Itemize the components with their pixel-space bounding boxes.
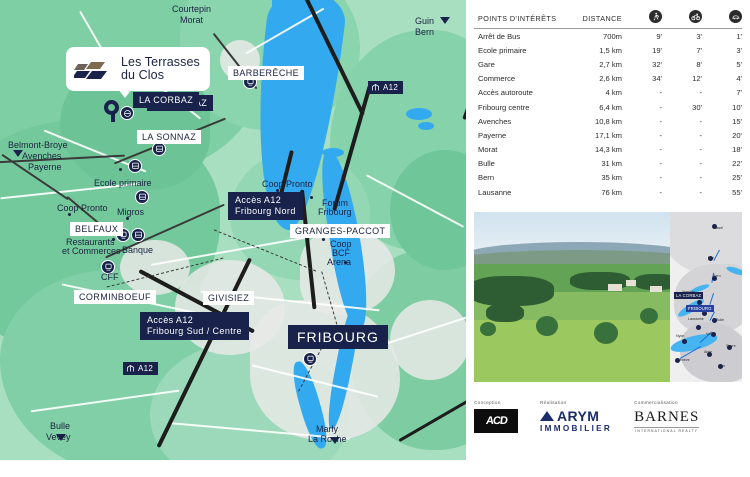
poi-bike-time: 7' bbox=[662, 43, 702, 57]
credit-caption: Conception bbox=[474, 400, 518, 405]
tree bbox=[640, 308, 658, 324]
page-bottom-margin bbox=[0, 460, 750, 477]
motorway-icon bbox=[126, 364, 135, 373]
field bbox=[474, 320, 670, 382]
poi-name: Accès autoroute bbox=[474, 86, 564, 100]
map-label: Ecole primaire bbox=[94, 178, 152, 189]
header-poi: POINTS D'INTÉRÊTS bbox=[474, 10, 564, 29]
bicycle-icon bbox=[689, 10, 702, 23]
poi-distance: 6,4 km bbox=[564, 100, 622, 114]
urban-area bbox=[175, 260, 285, 355]
direction-arrow bbox=[440, 17, 450, 24]
map-label: Bern bbox=[415, 27, 434, 38]
poi-bike-time: 3' bbox=[662, 29, 702, 44]
map-label: Banque bbox=[122, 245, 153, 256]
access-line-2: Fribourg Sud / Centre bbox=[147, 326, 242, 337]
header-distance: DISTANCE bbox=[564, 10, 622, 29]
poi-distance: 1,5 km bbox=[564, 43, 622, 57]
poi-walk-time: 34' bbox=[622, 72, 662, 86]
map-label: et Commerces bbox=[62, 246, 121, 257]
poi-distance: 17,1 km bbox=[564, 128, 622, 142]
map-district-label: GIVISIEZ bbox=[203, 291, 254, 305]
map-label: Belmont-Broye bbox=[8, 140, 68, 151]
swiss-city-label: Basel bbox=[714, 226, 723, 230]
motorway-shield: A12 bbox=[123, 362, 158, 375]
credit-commercialisation: Commercialisation BARNES INTERNATIONAL R… bbox=[634, 400, 699, 433]
poi-walk-time: - bbox=[622, 86, 662, 100]
poi-name: Bern bbox=[474, 171, 564, 185]
switzerland-overview-map: BaselBielBernYverdon-les-bainsLausanneBu… bbox=[670, 212, 742, 382]
poi-car-time: 25' bbox=[702, 171, 742, 185]
map-district-label: CORMINBOEUF bbox=[74, 290, 156, 304]
table-row: Ecole primaire1,5 km19'7'3' bbox=[474, 43, 742, 57]
table-body: Arrêt de Bus700m9'3'1'Ecole primaire1,5 … bbox=[474, 29, 742, 200]
tree bbox=[536, 316, 558, 336]
pond bbox=[418, 122, 434, 130]
walking-icon bbox=[649, 10, 662, 23]
brochure-page: CourtepinMoratGuinBernBelmont-BroyeAvenc… bbox=[0, 0, 750, 477]
credit-caption: Réalisation bbox=[540, 400, 612, 405]
table-row: Gare2,7 km32'8'5' bbox=[474, 57, 742, 71]
poi-bike-time: - bbox=[662, 185, 702, 199]
table-row: Morat14,3 km--18' bbox=[474, 143, 742, 157]
swiss-city-label: Lausanne bbox=[688, 317, 704, 321]
map-access-label[interactable]: Accès A12Fribourg Nord bbox=[228, 192, 303, 220]
map-district-label: BARBERÊCHE bbox=[228, 66, 304, 80]
pond bbox=[406, 108, 432, 120]
header-walking bbox=[622, 10, 662, 29]
poi-car-time: 55' bbox=[702, 185, 742, 199]
terrasses-du-clos-logo bbox=[74, 54, 114, 84]
arym-logo-row: ARYM bbox=[540, 409, 612, 423]
header-car bbox=[702, 10, 742, 29]
poi-distance: 10,8 km bbox=[564, 114, 622, 128]
poi-name: Morat bbox=[474, 143, 564, 157]
poi-name: Ecole primaire bbox=[474, 43, 564, 57]
swiss-city-label: Nyon bbox=[676, 334, 684, 338]
callout-tail bbox=[118, 89, 132, 98]
poi-distance: 76 km bbox=[564, 185, 622, 199]
poi-bike-time: - bbox=[662, 171, 702, 185]
poi-walk-time: 9' bbox=[622, 29, 662, 44]
poi-car-time: 5' bbox=[702, 57, 742, 71]
acd-logo: ACD bbox=[474, 409, 518, 433]
poi-name: Avenches bbox=[474, 114, 564, 128]
project-name: Les Terrasses du Clos bbox=[121, 56, 200, 83]
poi-walk-time: - bbox=[622, 100, 662, 114]
table-header-row: POINTS D'INTÉRÊTS DISTANCE bbox=[474, 10, 742, 29]
poi-bike-time: - bbox=[662, 157, 702, 171]
poi-name: Fribourg centre bbox=[474, 100, 564, 114]
media-row: BaselBielBernYverdon-les-bainsLausanneBu… bbox=[474, 212, 742, 382]
map-label: Courtepin bbox=[172, 4, 211, 15]
arym-wordmark: ARYM bbox=[557, 409, 599, 423]
hedge-row bbox=[474, 276, 554, 306]
swiss-city-label: Sierre bbox=[726, 344, 736, 348]
credit-caption: Commercialisation bbox=[634, 400, 699, 405]
poi-dot bbox=[119, 168, 122, 171]
poi-name: Arrêt de Bus bbox=[474, 29, 564, 44]
poi-car-time: 18' bbox=[702, 143, 742, 157]
swiss-city-label: Bern bbox=[713, 274, 721, 278]
points-of-interest-table: POINTS D'INTÉRÊTS DISTANCE bbox=[474, 10, 742, 199]
table-header: POINTS D'INTÉRÊTS DISTANCE bbox=[474, 10, 742, 29]
poi-car-time: 10' bbox=[702, 100, 742, 114]
motorway-shield: A12 bbox=[368, 81, 403, 94]
poi-bike-time: 8' bbox=[662, 57, 702, 71]
map-label: Coop Pronto bbox=[262, 179, 313, 190]
tree bbox=[594, 322, 618, 344]
poi-walk-time: - bbox=[622, 171, 662, 185]
location-map[interactable]: CourtepinMoratGuinBernBelmont-BroyeAvenc… bbox=[0, 0, 466, 460]
info-panel: POINTS D'INTÉRÊTS DISTANCE bbox=[466, 0, 750, 460]
car-icon bbox=[729, 10, 742, 23]
poi-car-time: 7' bbox=[702, 86, 742, 100]
poi-distance: 700m bbox=[564, 29, 622, 44]
poi-car-time: 4' bbox=[702, 72, 742, 86]
map-label: Guin bbox=[415, 16, 434, 27]
table-row: Arrêt de Bus700m9'3'1' bbox=[474, 29, 742, 44]
swiss-city-label: Genève bbox=[677, 358, 690, 362]
farm-building bbox=[626, 280, 636, 286]
map-label: Vevey bbox=[46, 432, 71, 443]
poi-walk-time: 19' bbox=[622, 43, 662, 57]
poi-walk-time: - bbox=[622, 128, 662, 142]
swiss-city-label: Bulle bbox=[716, 318, 724, 322]
poi-bike-time: - bbox=[662, 143, 702, 157]
poi-distance: 2,6 km bbox=[564, 72, 622, 86]
credit-conception: Conception ACD bbox=[474, 400, 518, 433]
farm-building bbox=[650, 286, 662, 292]
map-label: Fribourg bbox=[318, 207, 352, 218]
project-callout[interactable]: Les Terrasses du Clos bbox=[66, 47, 210, 91]
poi-distance: 2,7 km bbox=[564, 57, 622, 71]
swiss-city-label: Biel bbox=[708, 256, 714, 260]
la-corbaz-highlight: LA CORBAZ bbox=[674, 292, 703, 299]
poi-name: Lausanne bbox=[474, 185, 564, 199]
poi-distance: 14,3 km bbox=[564, 143, 622, 157]
poi-distance: 31 km bbox=[564, 157, 622, 171]
pond bbox=[322, 148, 344, 157]
poi-car-time: 15' bbox=[702, 114, 742, 128]
credit-realisation: Réalisation ARYM IMMOBILIER bbox=[540, 400, 612, 433]
poi-distance: 35 km bbox=[564, 171, 622, 185]
hedge-row bbox=[486, 304, 524, 322]
poi-car-time: 20' bbox=[702, 128, 742, 142]
table-row: Bern35 km--25' bbox=[474, 171, 742, 185]
city-node-lausanne bbox=[696, 325, 701, 330]
poi-dot bbox=[322, 238, 325, 241]
motorway-number: A12 bbox=[383, 83, 398, 92]
site-label-la-corbaz: LA CORBAZ bbox=[133, 92, 199, 108]
map-district-label: BELFAUX bbox=[70, 222, 123, 236]
map-label: Avenches bbox=[22, 151, 61, 162]
poi-bike-time: - bbox=[662, 86, 702, 100]
map-label: Migros bbox=[117, 207, 144, 218]
map-label: Payerne bbox=[28, 162, 62, 173]
fribourg-station-pin[interactable] bbox=[303, 352, 317, 366]
urban-area bbox=[390, 300, 466, 380]
table-row: Avenches10,8 km--15' bbox=[474, 114, 742, 128]
poi-bike-time: - bbox=[662, 114, 702, 128]
motorway-icon bbox=[371, 83, 380, 92]
mountain-icon bbox=[540, 411, 554, 421]
barnes-subtitle: INTERNATIONAL REALTY bbox=[634, 427, 699, 433]
poi-walk-time: - bbox=[622, 157, 662, 171]
poi-distance: 4 km bbox=[564, 86, 622, 100]
table-row: Commerce2,6 km34'12'4' bbox=[474, 72, 742, 86]
arym-subtitle: IMMOBILIER bbox=[540, 424, 612, 433]
map-district-label: LA SONNAZ bbox=[137, 130, 201, 144]
access-line-1: Accès A12 bbox=[235, 195, 296, 206]
acd-logo-text: ACD bbox=[485, 415, 508, 427]
poi-walk-time: - bbox=[622, 143, 662, 157]
city-node-fribourg bbox=[702, 311, 707, 316]
poi-walk-time: 32' bbox=[622, 57, 662, 71]
table-row: Bulle31 km--22' bbox=[474, 157, 742, 171]
bus-stop-pin[interactable] bbox=[120, 106, 134, 120]
project-name-line1: Les Terrasses bbox=[121, 56, 200, 70]
motorway-number: A12 bbox=[138, 364, 153, 373]
map-district-label: GRANGES-PACCOT bbox=[290, 224, 390, 238]
table-row: Accès autoroute4 km--7' bbox=[474, 86, 742, 100]
bus-stop-pin[interactable] bbox=[128, 159, 142, 173]
map-label: La Roche bbox=[308, 434, 347, 445]
swiss-city-label: Sion bbox=[718, 364, 725, 368]
bus-stop-pin[interactable] bbox=[152, 142, 166, 156]
city-node-nyon bbox=[682, 339, 687, 344]
access-line-2: Fribourg Nord bbox=[235, 206, 296, 217]
poi-car-time: 22' bbox=[702, 157, 742, 171]
poi-bike-time: - bbox=[662, 128, 702, 142]
table-row: Payerne17,1 km--20' bbox=[474, 128, 742, 142]
poi-car-time: 1' bbox=[702, 29, 742, 44]
barnes-wordmark: BARNES bbox=[634, 409, 699, 425]
map-label: Coop Pronto bbox=[57, 203, 108, 214]
tree bbox=[480, 322, 496, 336]
poi-walk-time: - bbox=[622, 114, 662, 128]
poi-bike-time: 12' bbox=[662, 72, 702, 86]
project-name-line2: du Clos bbox=[121, 69, 200, 83]
bus-stop-pin[interactable] bbox=[131, 228, 145, 242]
poi-walk-time: - bbox=[622, 185, 662, 199]
map-access-label[interactable]: Accès A12Fribourg Sud / Centre bbox=[140, 312, 249, 340]
map-city-label: FRIBOURG bbox=[288, 325, 388, 349]
poi-dot bbox=[310, 196, 313, 199]
map-label: CFF bbox=[101, 272, 119, 283]
header-bicycle bbox=[662, 10, 702, 29]
poi-name: Commerce bbox=[474, 72, 564, 86]
swiss-city-label: Vevey bbox=[706, 332, 716, 336]
table-row: Fribourg centre6,4 km-30'10' bbox=[474, 100, 742, 114]
table-row: Lausanne76 km--55' bbox=[474, 185, 742, 199]
poi-name: Bulle bbox=[474, 157, 564, 171]
swiss-city-label: Aigle bbox=[704, 350, 712, 354]
landscape-photo bbox=[474, 212, 670, 382]
map-label: Morat bbox=[180, 15, 203, 26]
access-line-1: Accès A12 bbox=[147, 315, 242, 326]
map-label: Bulle bbox=[50, 421, 70, 432]
barnes-logo: BARNES INTERNATIONAL REALTY bbox=[634, 409, 699, 433]
poi-name: Gare bbox=[474, 57, 564, 71]
credits-row: Conception ACD Réalisation ARYM IMMOBILI… bbox=[474, 400, 742, 433]
bus-stop-pin[interactable] bbox=[135, 190, 149, 204]
poi-name: Payerne bbox=[474, 128, 564, 142]
arym-logo: ARYM IMMOBILIER bbox=[540, 409, 612, 433]
poi-car-time: 3' bbox=[702, 43, 742, 57]
site-location-marker bbox=[104, 100, 119, 115]
fribourg-highlight: FRIBOURG bbox=[686, 305, 714, 312]
farm-building bbox=[608, 284, 622, 291]
map-label: Arena bbox=[327, 257, 351, 268]
poi-bike-time: 30' bbox=[662, 100, 702, 114]
